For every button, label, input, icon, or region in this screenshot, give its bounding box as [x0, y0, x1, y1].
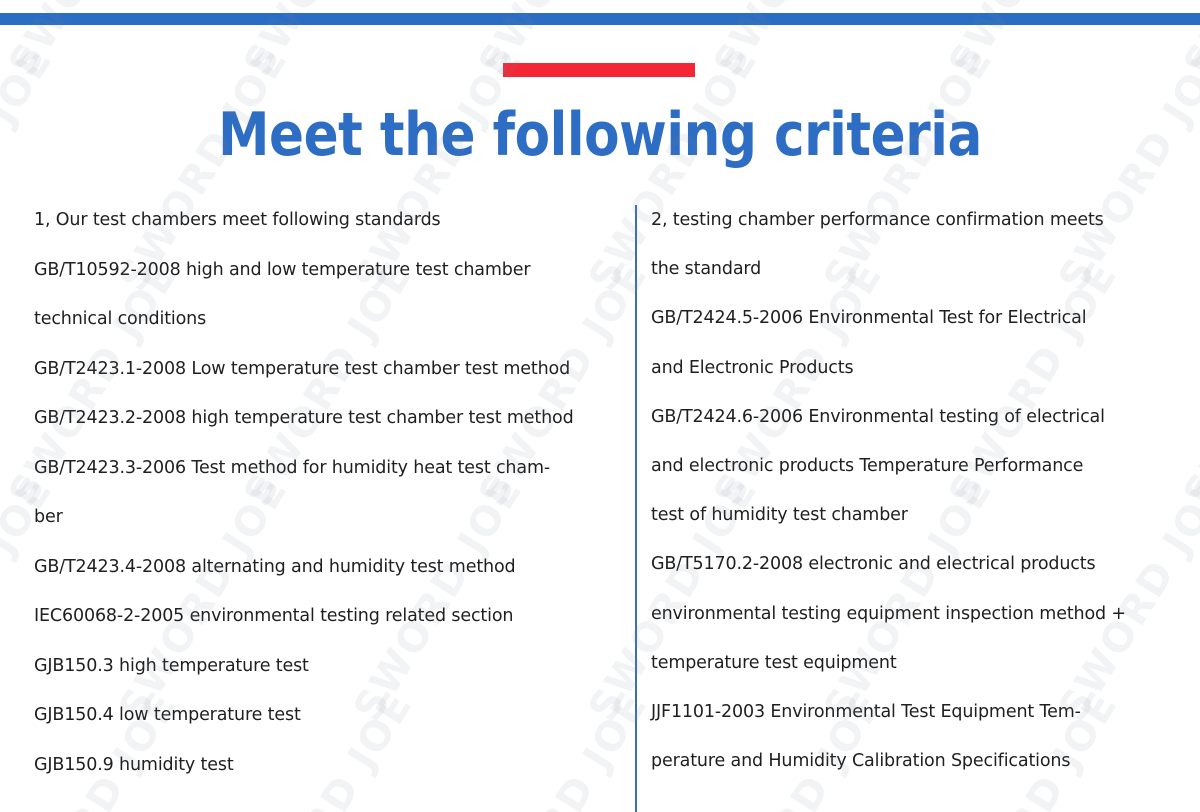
text-line: environmental testing equipment inspecti…: [651, 590, 1171, 639]
text-line: and electronic products Temperature Perf…: [651, 442, 1171, 491]
text-line: IEC60068-2-2005 environmental testing re…: [34, 592, 632, 642]
text-line: temperature test equipment: [651, 639, 1171, 688]
text-line: GB/T5170.2-2008 electronic and electrica…: [651, 540, 1171, 589]
text-line: GJB150.3 high temperature test: [34, 642, 632, 692]
text-line: perature and Humidity Calibration Specif…: [651, 737, 1171, 786]
text-line: GB/T2423.2-2008 high temperature test ch…: [34, 394, 632, 444]
text-line: technical conditions: [34, 295, 632, 345]
text-line: the standard: [651, 245, 1171, 294]
text-line: GB/T10592-2008 high and low temperature …: [34, 246, 632, 296]
text-line: GB/T2423.4-2008 alternating and humidity…: [34, 543, 632, 593]
text-line: GB/T2424.6-2006 Environmental testing of…: [651, 393, 1171, 442]
text-line: GJB150.4 low temperature test: [34, 691, 632, 741]
left-column: 1, Our test chambers meet following stan…: [34, 196, 632, 790]
column-divider: [635, 205, 637, 812]
text-line: JJF1101-2003 Environmental Test Equipmen…: [651, 688, 1171, 737]
content-columns: 1, Our test chambers meet following stan…: [0, 196, 1200, 812]
slide-page: Meet the following criteria 1, Our test …: [0, 0, 1200, 812]
text-line: GB/T2424.5-2006 Environmental Test for E…: [651, 294, 1171, 343]
text-line: 1, Our test chambers meet following stan…: [34, 196, 632, 246]
red-accent-bar: [503, 63, 695, 77]
right-column: 2, testing chamber performance confirmat…: [651, 196, 1171, 786]
text-line: test of humidity test chamber: [651, 491, 1171, 540]
text-line: GB/T2423.3-2006 Test method for humidity…: [34, 444, 632, 494]
page-title: Meet the following criteria: [84, 98, 1116, 172]
text-line: ber: [34, 493, 632, 543]
top-blue-bar: [0, 13, 1200, 25]
text-line: GJB150.9 humidity test: [34, 741, 632, 791]
text-line: 2, testing chamber performance confirmat…: [651, 196, 1171, 245]
text-line: and Electronic Products: [651, 344, 1171, 393]
text-line: GB/T2423.1-2008 Low temperature test cha…: [34, 345, 632, 395]
